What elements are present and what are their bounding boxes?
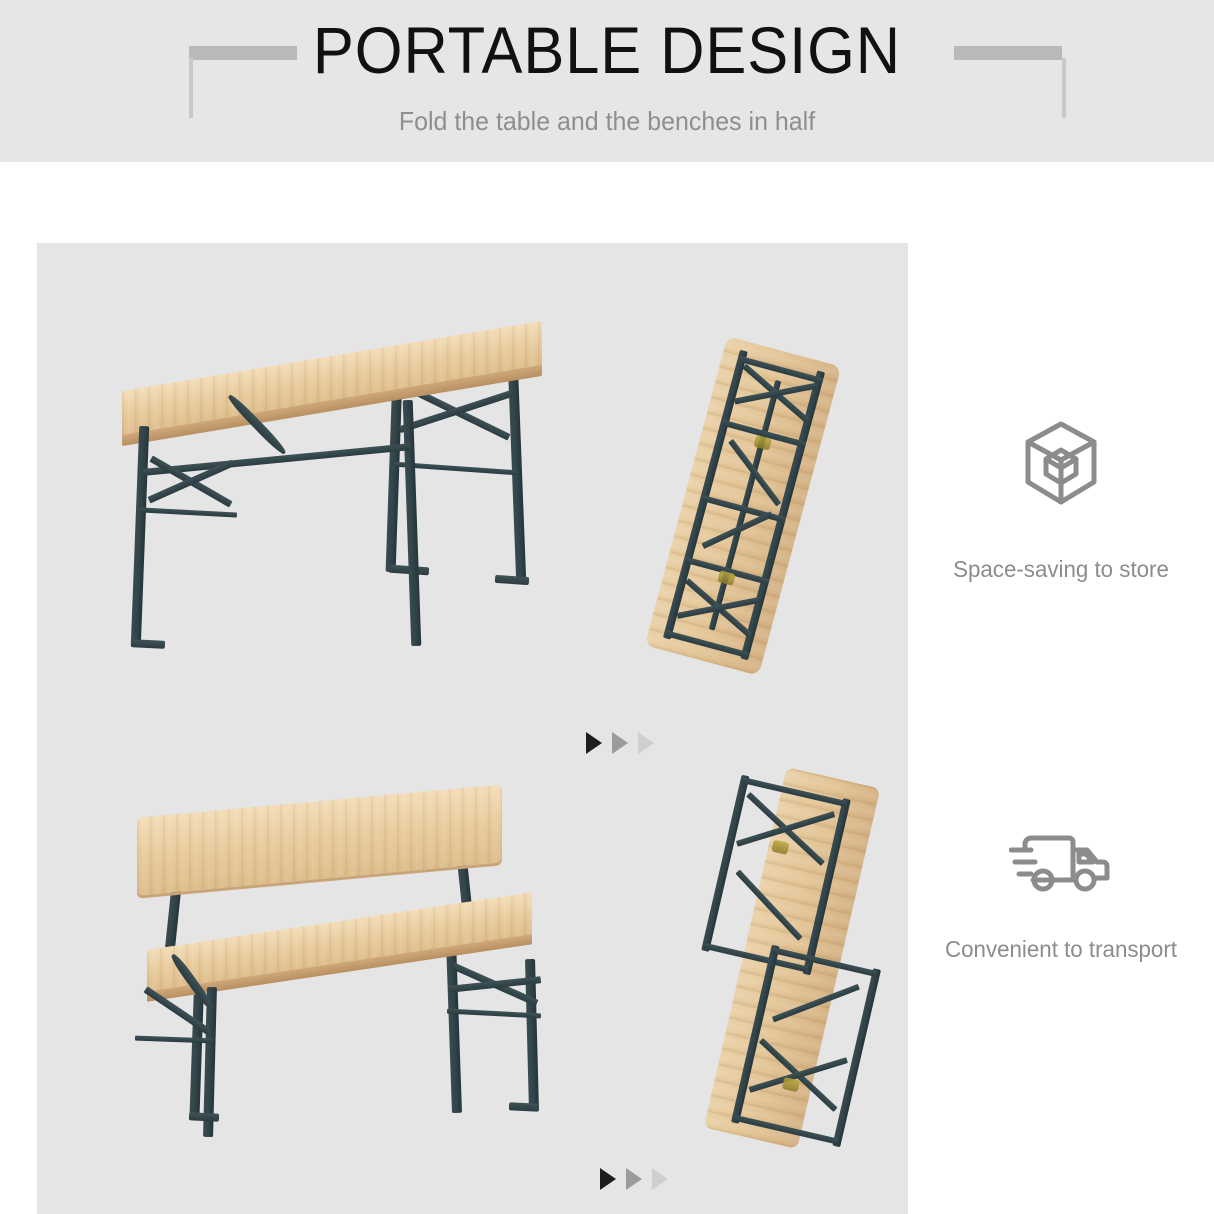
- table-leg-back-left: [386, 376, 403, 572]
- arrow-group-bench: [600, 1168, 668, 1190]
- photo-folding-bench-open: [97, 791, 567, 1131]
- table-foot-back-right: [495, 575, 529, 585]
- cube-box-icon: [1021, 420, 1101, 508]
- table-brace-front-rail: [141, 507, 237, 517]
- header-band: PORTABLE DESIGN Fold the table and the b…: [0, 0, 1214, 162]
- delivery-truck-icon: [1009, 828, 1113, 894]
- feature-space-saving-label: Space-saving to store: [913, 554, 1210, 584]
- arrow-right-icon-4: [600, 1168, 616, 1190]
- feature-space-saving: Space-saving to store: [908, 420, 1214, 584]
- feature-transport-label: Convenient to transport: [913, 934, 1210, 964]
- bench-foot-left: [189, 1112, 219, 1122]
- bench-foot-right: [509, 1102, 539, 1112]
- table-folded-diag-1: [728, 439, 781, 507]
- photo-folding-table-folded: [662, 338, 862, 678]
- arrow-right-icon-1: [586, 732, 602, 754]
- feature-transport: Convenient to transport: [908, 828, 1214, 964]
- table-folded-rail-right: [740, 370, 825, 660]
- photo-folding-bench-folded: [692, 763, 922, 1163]
- bench-folded-rail-ul: [701, 775, 749, 952]
- table-foot-front-left: [131, 639, 165, 649]
- arrow-right-icon-6: [652, 1168, 668, 1190]
- decor-bar-right: [954, 46, 1062, 60]
- bench-folded-hinge-lower: [782, 1077, 800, 1092]
- arrow-group-table: [586, 732, 654, 754]
- bench-backrest: [137, 784, 502, 895]
- bench-folded-ldiag: [772, 984, 860, 1023]
- arrow-right-icon-3: [638, 732, 654, 754]
- bench-folded-udiag: [735, 870, 802, 941]
- bench-folded-hinge-upper: [771, 840, 789, 855]
- page-subtitle: Fold the table and the benches in half: [24, 104, 1189, 138]
- table-leg-front-left: [131, 426, 149, 646]
- arrow-right-icon-2: [612, 732, 628, 754]
- product-photo-panel: [37, 243, 908, 1214]
- photo-folding-table-open: [97, 338, 557, 668]
- arrow-right-icon-5: [626, 1168, 642, 1190]
- table-leg-front-right: [403, 400, 422, 646]
